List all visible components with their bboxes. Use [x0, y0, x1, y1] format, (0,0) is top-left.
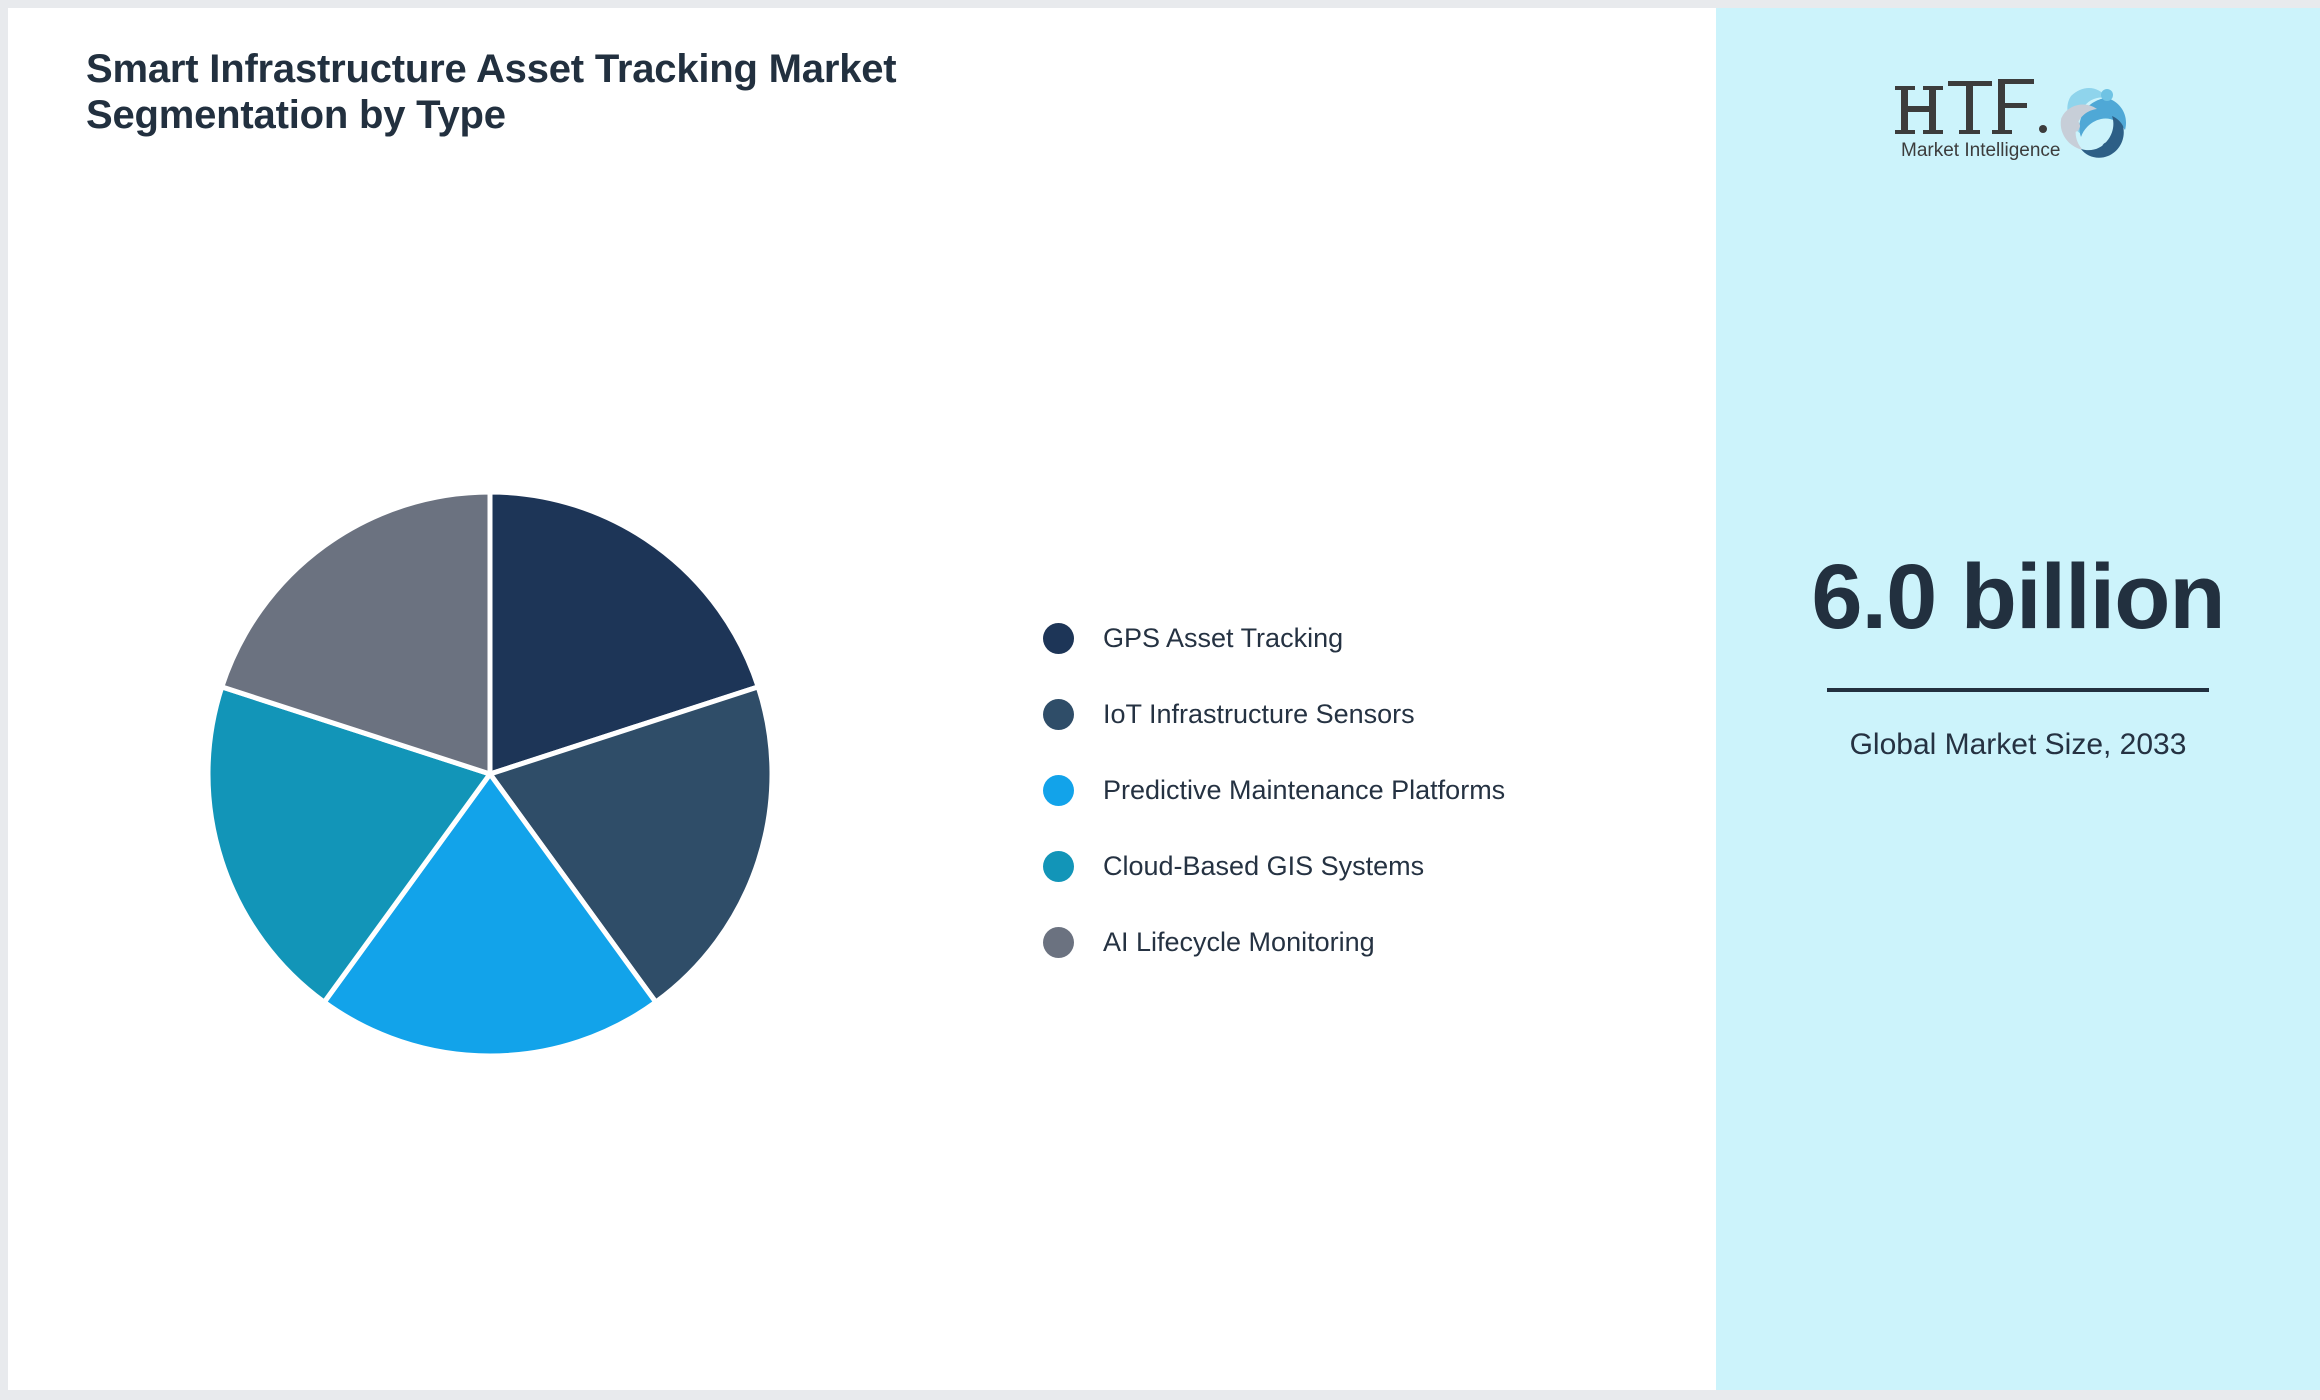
stat-caption: Global Market Size, 2033 — [1803, 726, 2233, 764]
legend-item[interactable]: Cloud-Based GIS Systems — [1043, 828, 1663, 904]
legend-swatch-icon — [1043, 775, 1074, 806]
legend-swatch-icon — [1043, 623, 1074, 654]
legend-item-label: IoT Infrastructure Sensors — [1103, 699, 1415, 730]
legend-item[interactable]: AI Lifecycle Monitoring — [1043, 904, 1663, 980]
legend-item-label: GPS Asset Tracking — [1103, 623, 1343, 654]
legend-swatch-icon — [1043, 699, 1074, 730]
htf-market-intelligence-logo-icon: Market Intelligence — [1893, 70, 2143, 162]
stat-value: 6.0 billion — [1803, 550, 2233, 646]
legend-item-label: Cloud-Based GIS Systems — [1103, 851, 1424, 882]
stat-pane: Market Intelligence 6.0 billion Global M… — [1716, 8, 2320, 1390]
logo-tagline: Market Intelligence — [1901, 140, 2060, 161]
chart-legend: GPS Asset Tracking IoT Infrastructure Se… — [1043, 600, 1663, 980]
chart-pane: Smart Infrastructure Asset Tracking Mark… — [8, 8, 1716, 1390]
legend-item[interactable]: GPS Asset Tracking — [1043, 600, 1663, 676]
brand-logo: Market Intelligence — [1716, 70, 2320, 162]
stat-divider — [1827, 688, 2209, 692]
page-title: Smart Infrastructure Asset Tracking Mark… — [86, 46, 1026, 138]
pie-chart-svg — [204, 488, 776, 1060]
infographic-card: Smart Infrastructure Asset Tracking Mark… — [0, 0, 2320, 1400]
legend-item-label: Predictive Maintenance Platforms — [1103, 775, 1505, 806]
legend-item[interactable]: IoT Infrastructure Sensors — [1043, 676, 1663, 752]
stat-block: 6.0 billion Global Market Size, 2033 — [1803, 550, 2233, 764]
legend-item[interactable]: Predictive Maintenance Platforms — [1043, 752, 1663, 828]
pie-chart — [204, 488, 776, 1060]
legend-swatch-icon — [1043, 851, 1074, 882]
legend-item-label: AI Lifecycle Monitoring — [1103, 927, 1375, 958]
legend-swatch-icon — [1043, 927, 1074, 958]
